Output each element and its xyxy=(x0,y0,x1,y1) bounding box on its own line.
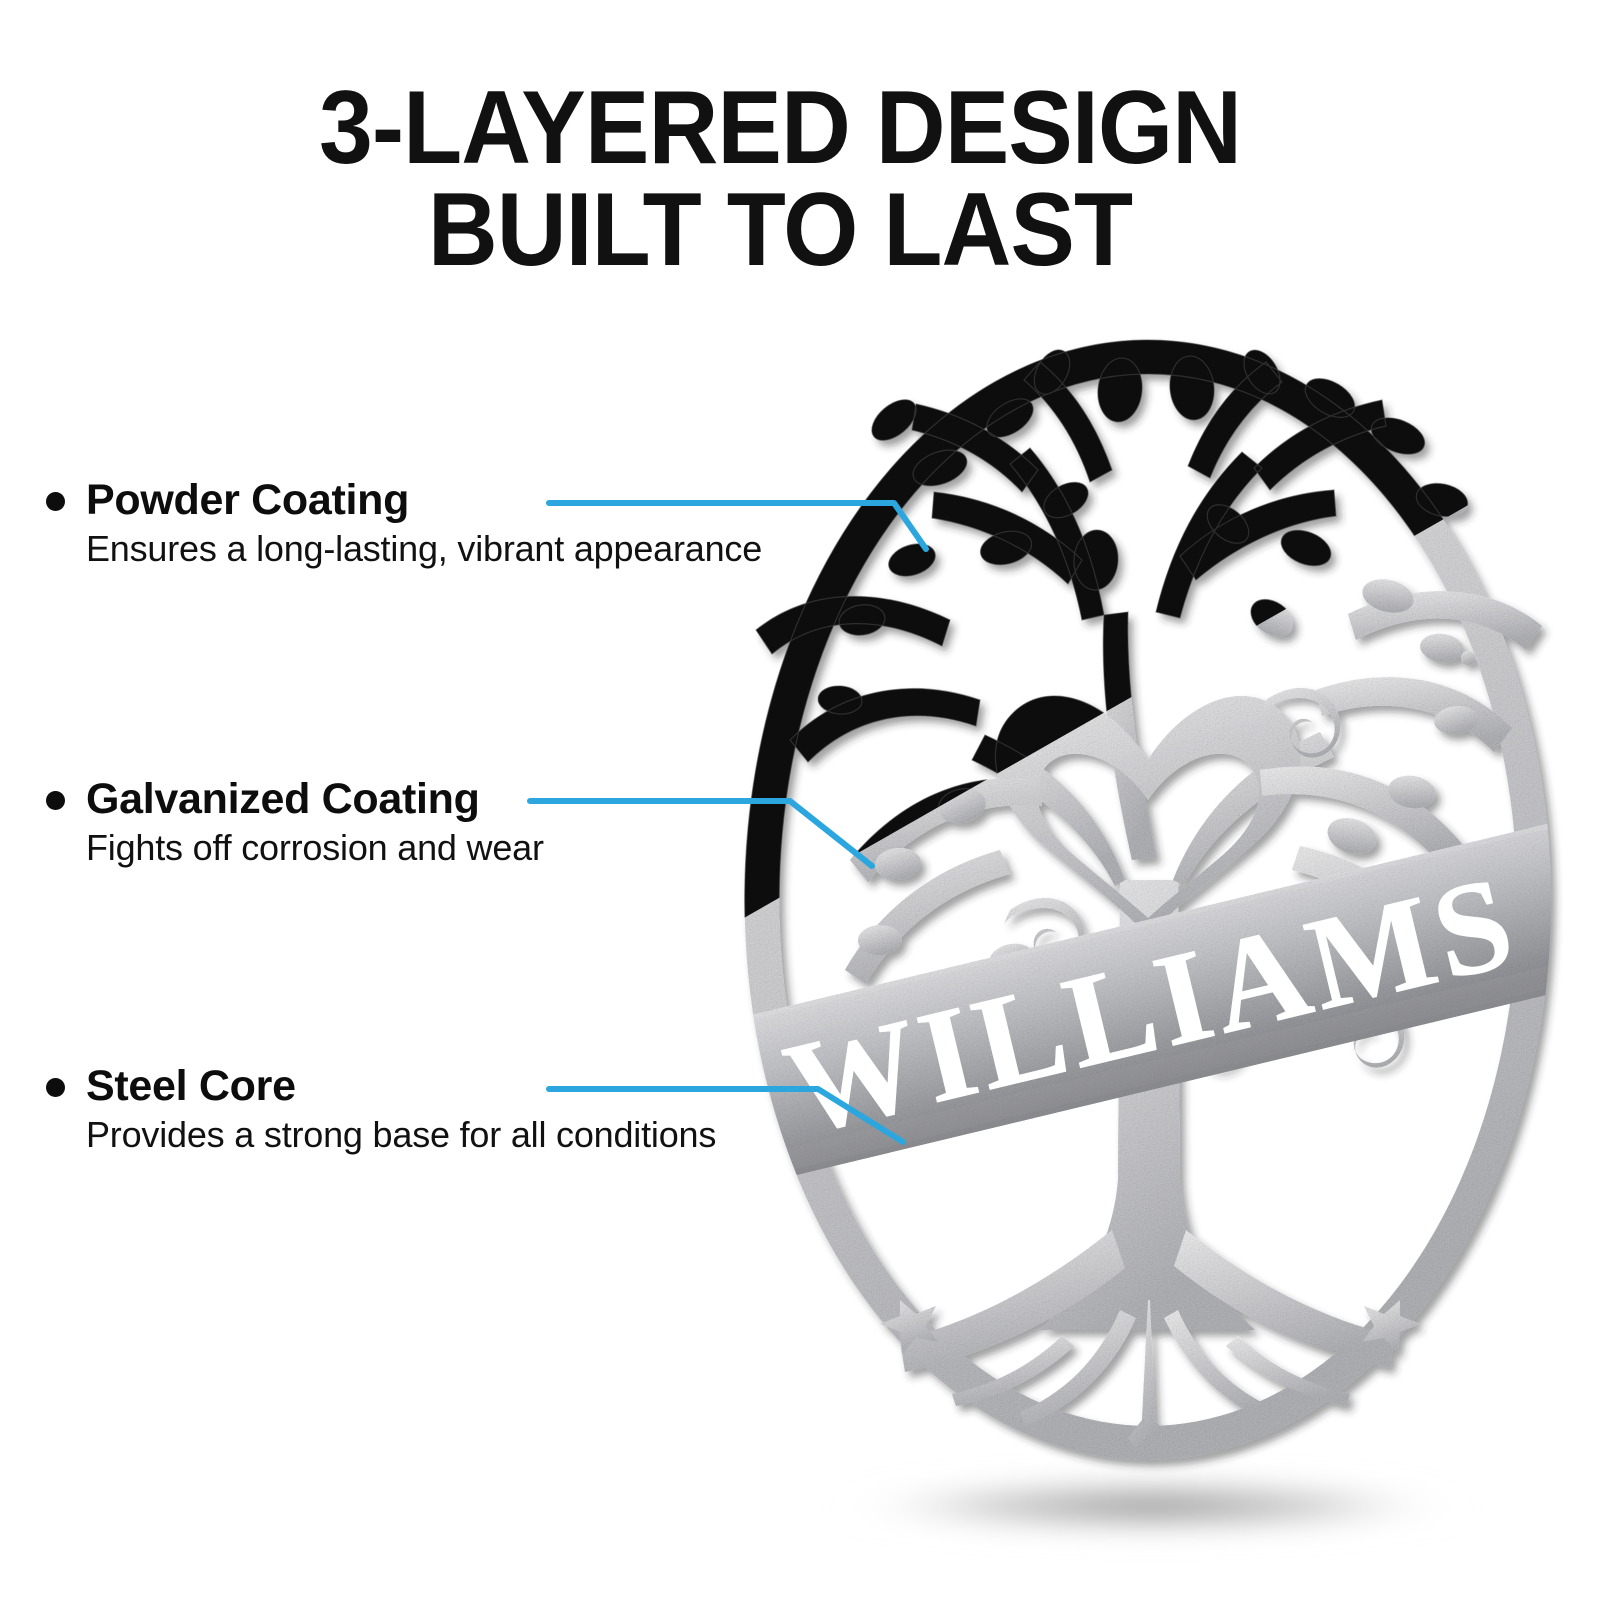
callout-subtext: Fights off corrosion and wear xyxy=(86,827,544,869)
bullet-dot-icon xyxy=(46,1078,65,1097)
bullet-dot-icon xyxy=(46,791,65,810)
callout-subtext: Ensures a long-lasting, vibrant appearan… xyxy=(86,528,762,570)
bullet-dot-icon xyxy=(46,492,65,511)
callout-heading: Steel Core xyxy=(86,1062,296,1111)
callout-heading: Galvanized Coating xyxy=(86,775,480,824)
headline-line-2: BUILT TO LAST xyxy=(55,180,1506,282)
headline: 3-LAYERED DESIGN BUILT TO LAST xyxy=(0,78,1560,282)
callout-heading: Powder Coating xyxy=(86,476,409,525)
infographic-canvas: WILLIAMS 3-LAYERED DESIGN BUILT TO LAST … xyxy=(0,0,1600,1600)
headline-line-1: 3-LAYERED DESIGN xyxy=(55,78,1506,180)
callout-subtext: Provides a strong base for all condition… xyxy=(86,1114,716,1156)
product-drop-shadow xyxy=(830,1476,1474,1536)
